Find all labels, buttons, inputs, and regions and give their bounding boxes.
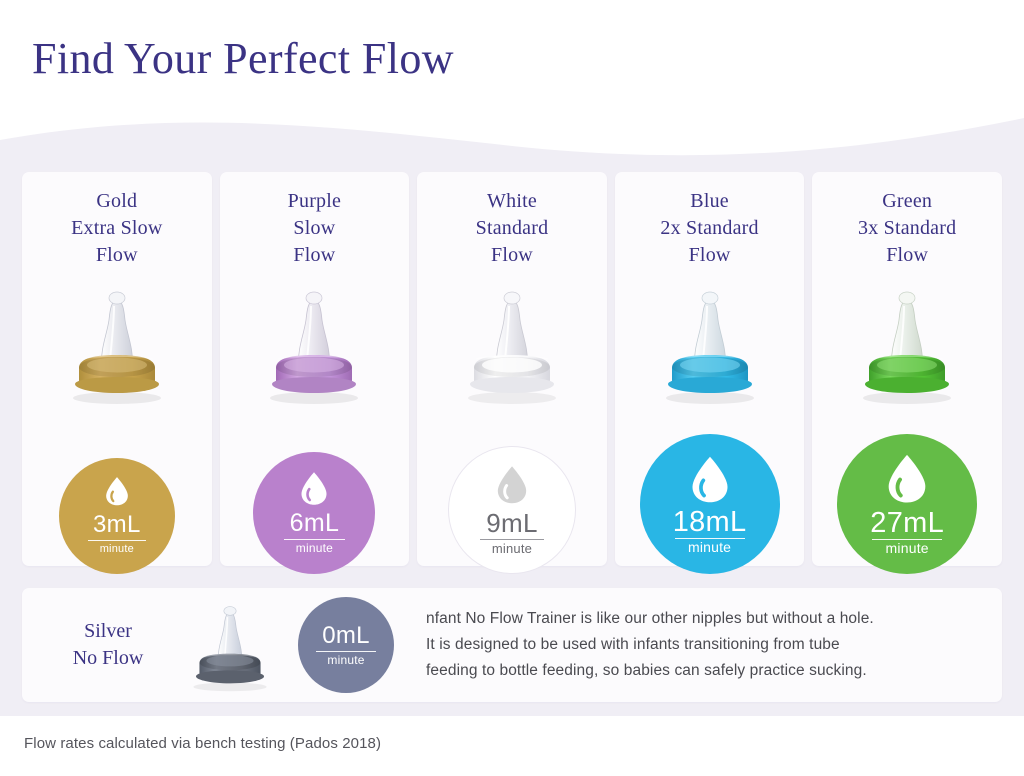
card-title-line-3: Flow bbox=[812, 242, 1002, 269]
nipple-image-green bbox=[847, 276, 967, 406]
panel-description-line-1: nfant No Flow Trainer is like our other … bbox=[426, 606, 874, 632]
flow-amount-blue: 18mL bbox=[671, 510, 749, 537]
flow-card-row: Gold Extra Slow Flow bbox=[22, 172, 1002, 566]
card-title-line-1: Blue bbox=[615, 188, 805, 215]
nipple-image-silver bbox=[176, 597, 284, 693]
flow-rate-badge-blue[interactable]: 18mL minute bbox=[640, 434, 780, 574]
nipple-image-white bbox=[452, 276, 572, 406]
flow-circle-gold: 3mL minute bbox=[59, 458, 175, 574]
no-flow-panel[interactable]: Silver No Flow bbox=[22, 588, 1002, 702]
flow-unit-white: minute bbox=[492, 542, 532, 555]
flow-rate-badge-white[interactable]: 9mL minute bbox=[448, 446, 576, 574]
amount-divider bbox=[480, 539, 544, 540]
panel-description-line-3: feeding to bottle feeding, so babies can… bbox=[426, 658, 874, 684]
flow-amount-silver: 0mL bbox=[320, 623, 372, 650]
amount-divider bbox=[284, 539, 345, 540]
flow-card-gold[interactable]: Gold Extra Slow Flow bbox=[22, 172, 212, 566]
flow-amount-gold: 3mL bbox=[91, 512, 143, 539]
flow-circle-white: 9mL minute bbox=[448, 446, 576, 574]
flow-card-blue[interactable]: Blue 2x Standard Flow bbox=[615, 172, 805, 566]
amount-divider bbox=[88, 540, 146, 541]
card-title-line-2: Standard bbox=[417, 215, 607, 242]
panel-description: nfant No Flow Trainer is like our other … bbox=[426, 606, 874, 684]
flow-unit-silver: minute bbox=[327, 654, 364, 667]
droplet-icon bbox=[104, 476, 130, 506]
amount-divider bbox=[316, 651, 376, 652]
flow-circle-green: 27mL minute bbox=[837, 434, 977, 574]
nipple-image-gold bbox=[57, 276, 177, 406]
droplet-icon bbox=[495, 465, 529, 505]
card-title-line-3: Flow bbox=[615, 242, 805, 269]
panel-title-line-1: Silver bbox=[84, 620, 132, 642]
flow-unit-blue: minute bbox=[688, 541, 731, 554]
card-title-line-3: Flow bbox=[220, 242, 410, 269]
flow-rate-badge-purple[interactable]: 6mL minute bbox=[253, 452, 375, 574]
card-title-line-1: Purple bbox=[220, 188, 410, 215]
amount-divider bbox=[675, 538, 745, 539]
droplet-icon bbox=[299, 471, 329, 506]
card-title-line-2: Slow bbox=[220, 215, 410, 242]
flow-amount-white: 9mL bbox=[484, 511, 539, 538]
card-title-line-3: Flow bbox=[22, 242, 212, 269]
panel-title-silver: Silver No Flow bbox=[22, 618, 172, 672]
panel-description-line-2: It is designed to be used with infants t… bbox=[426, 632, 874, 658]
flow-card-green[interactable]: Green 3x Standard Flow bbox=[812, 172, 1002, 566]
card-title-line-2: 3x Standard bbox=[812, 215, 1002, 242]
flow-unit-purple: minute bbox=[296, 542, 333, 555]
page-title: Find Your Perfect Flow bbox=[32, 30, 454, 88]
droplet-icon bbox=[689, 455, 731, 504]
flow-rate-badge-green[interactable]: 27mL minute bbox=[837, 434, 977, 574]
card-title-gold: Gold Extra Slow Flow bbox=[22, 172, 212, 269]
flow-circle-blue: 18mL minute bbox=[640, 434, 780, 574]
card-title-white: White Standard Flow bbox=[417, 172, 607, 269]
infographic-page: Find Your Perfect Flow Gold Extra Slow F… bbox=[0, 0, 1024, 776]
flow-unit-green: minute bbox=[886, 542, 929, 555]
droplet-icon bbox=[885, 453, 929, 504]
card-title-line-2: 2x Standard bbox=[615, 215, 805, 242]
card-title-line-1: Green bbox=[812, 188, 1002, 215]
flow-amount-green: 27mL bbox=[868, 511, 946, 538]
card-title-line-1: White bbox=[417, 188, 607, 215]
nipple-image-purple bbox=[254, 276, 374, 406]
card-title-line-3: Flow bbox=[417, 242, 607, 269]
card-title-purple: Purple Slow Flow bbox=[220, 172, 410, 269]
flow-amount-purple: 6mL bbox=[288, 511, 342, 538]
card-title-line-1: Gold bbox=[22, 188, 212, 215]
flow-circle-purple: 6mL minute bbox=[253, 452, 375, 574]
flow-rate-badge-silver[interactable]: 0mL minute bbox=[298, 597, 394, 693]
card-title-line-2: Extra Slow bbox=[22, 215, 212, 242]
flow-unit-gold: minute bbox=[100, 543, 134, 556]
nipple-image-blue bbox=[650, 276, 770, 406]
flow-rate-badge-gold[interactable]: 3mL minute bbox=[59, 458, 175, 574]
flow-card-purple[interactable]: Purple Slow Flow bbox=[220, 172, 410, 566]
flow-circle-silver: 0mL minute bbox=[298, 597, 394, 693]
footnote: Flow rates calculated via bench testing … bbox=[24, 734, 381, 754]
flow-card-white[interactable]: White Standard Flow bbox=[417, 172, 607, 566]
amount-divider bbox=[872, 539, 942, 540]
panel-title-line-2: No Flow bbox=[73, 647, 144, 669]
card-title-green: Green 3x Standard Flow bbox=[812, 172, 1002, 269]
card-title-blue: Blue 2x Standard Flow bbox=[615, 172, 805, 269]
